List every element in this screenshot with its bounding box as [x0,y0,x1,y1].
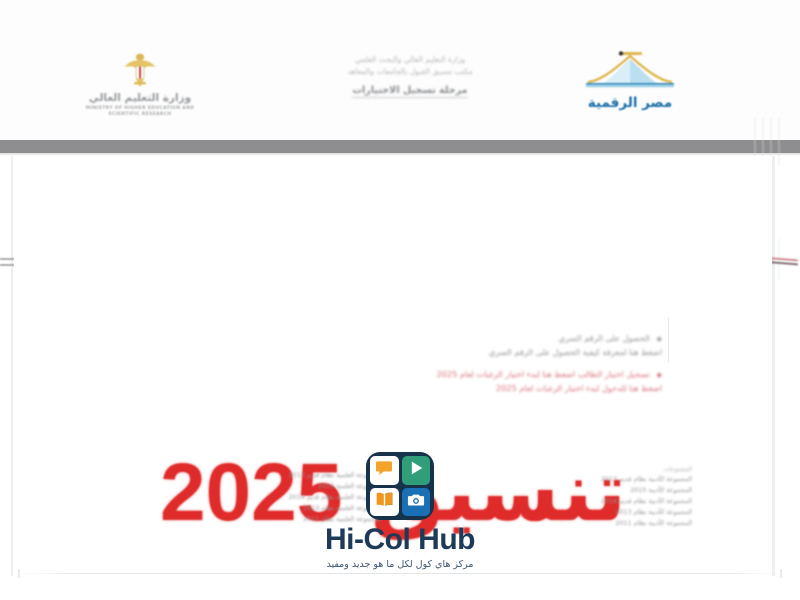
play-triangle-icon [406,458,426,482]
hicolhub-logo [366,452,434,520]
note-line: ◆ الحصول على الرقم السري [302,332,662,346]
note-text: تسجيل اختيار الطالب اضغط هنا لبدء اختيار… [436,369,649,379]
digital-egypt-name: مصر الرقمية [576,95,684,111]
logo-quadrant-book [370,488,399,517]
page-bottom-strip [0,576,800,600]
center-line-1: وزارة التعليم العالي والبحث العلمي [300,54,520,66]
header-separator-band [0,140,800,153]
ministry-name-ar: وزارة التعليم العالي [72,92,208,104]
ministry-logo: وزارة التعليم العالي MINISTRY OF HIGHER … [72,50,208,136]
speech-bubble-icon [374,458,394,482]
note-item[interactable]: ◆ الحصول على الرقم السري اضغط هنا لمعرفة… [302,332,662,359]
logo-quadrant-speech [370,456,399,485]
pyramid-icon [580,48,680,94]
open-book-icon [374,489,395,514]
watermark-title: Hi-Col Hub [0,524,800,556]
note-text: اضغط هنا للدخول لبدء اختيار الرغبات لعام… [496,383,662,393]
note-line: ◆ تسجيل اختيار الطالب اضغط هنا لبدء اختي… [302,368,662,382]
header-center-text: وزارة التعليم العالي والبحث العلمي مكتب … [300,54,520,98]
camera-icon [406,490,426,514]
logo-quadrant-video [402,456,431,485]
center-line-3: مرحلة تسجيل الاختيارات [352,85,467,98]
watermark-subtitle: مركز هاي كول لكل ما هو جديد ومفيد [0,559,800,570]
note-text: اضغط هنا لمعرفة كيفية الحصول على الرقم ا… [489,347,662,357]
egypt-eagle-emblem-icon [123,50,157,90]
logo-quadrant-photo [402,488,431,517]
note-line: اضغط هنا للدخول لبدء اختيار الرغبات لعام… [302,382,662,396]
note-line: اضغط هنا لمعرفة كيفية الحصول على الرقم ا… [302,346,662,360]
watermark: Hi-Col Hub مركز هاي كول لكل ما هو جديد و… [0,452,800,570]
notes-block: ◆ الحصول على الرقم السري اضغط هنا لمعرفة… [302,332,662,404]
headline-edge-tick [668,318,669,362]
bullet-icon: ◆ [656,370,662,382]
ministry-name-en: MINISTRY OF HIGHER EDUCATION AND SCIENTI… [72,106,208,118]
watermark-divider [18,573,782,574]
center-line-2: مكتب تنسيق القبول بالجامعات والمعاهد [300,66,520,78]
header-logos: وزارة التعليم العالي MINISTRY OF HIGHER … [0,46,800,138]
watermark-divider-cap-right [780,569,782,578]
document-page: وزارة التعليم العالي MINISTRY OF HIGHER … [0,0,800,600]
watermark-divider-cap-left [18,569,20,578]
note-item-highlighted[interactable]: ◆ تسجيل اختيار الطالب اضغط هنا لبدء اختي… [302,368,662,395]
note-text: الحصول على الرقم السري [559,333,650,343]
digital-egypt-logo: مصر الرقمية [576,48,684,136]
bullet-icon: ◆ [656,334,662,346]
